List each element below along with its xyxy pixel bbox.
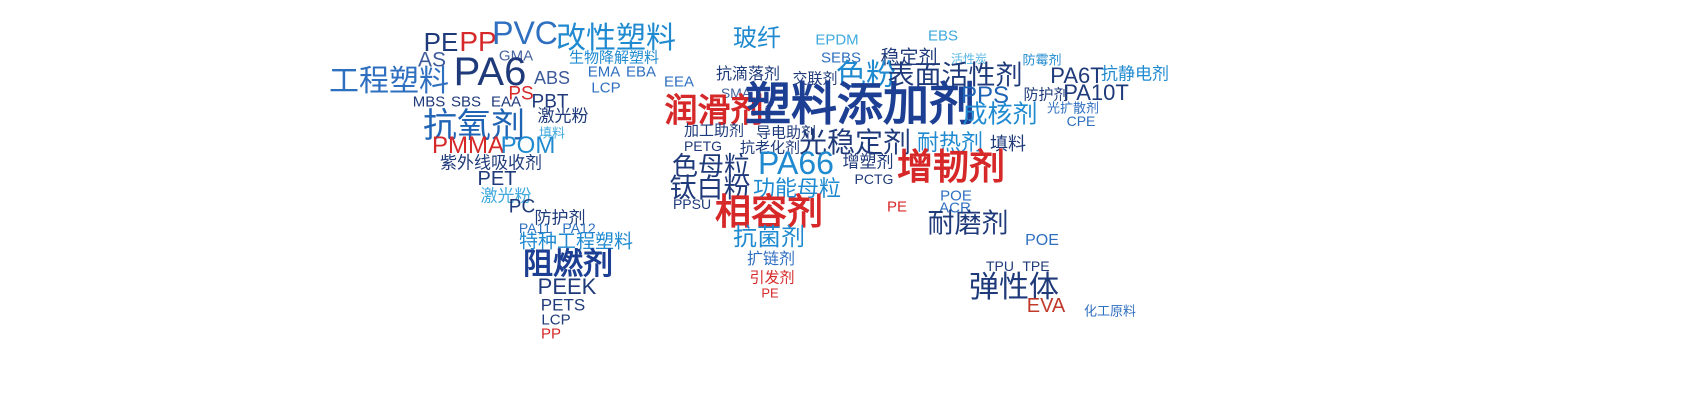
- cloud-word[interactable]: PPSU: [673, 197, 711, 211]
- cloud-word[interactable]: PA66: [758, 147, 834, 179]
- cloud-word[interactable]: 抗菌剂: [733, 226, 805, 250]
- cloud-word[interactable]: EMA: [588, 65, 621, 80]
- cloud-word[interactable]: 加工助剂: [684, 124, 744, 139]
- word-cloud-canvas: PEPPPVCGMA改性塑料玻纤EPDMEBSAS生物降解塑料SEBS稳定剂活性…: [0, 0, 1707, 400]
- cloud-word[interactable]: EBA: [626, 65, 656, 80]
- cloud-word[interactable]: 扩链剂: [747, 252, 795, 268]
- cloud-word[interactable]: PP: [541, 327, 561, 342]
- cloud-word[interactable]: ABS: [534, 69, 570, 87]
- cloud-word[interactable]: 化工原料: [1084, 305, 1136, 318]
- cloud-word[interactable]: CPE: [1067, 114, 1096, 128]
- cloud-word[interactable]: EBS: [928, 29, 958, 44]
- cloud-word[interactable]: EPDM: [815, 33, 858, 48]
- cloud-word[interactable]: PVC: [492, 17, 558, 49]
- cloud-word[interactable]: EVA: [1027, 296, 1066, 316]
- cloud-word[interactable]: LCP: [591, 81, 620, 96]
- cloud-word[interactable]: 成核剂: [962, 103, 1037, 128]
- cloud-word[interactable]: 激光粉: [538, 108, 589, 125]
- cloud-word[interactable]: 增韧剂: [897, 149, 1005, 185]
- cloud-word[interactable]: POE: [1025, 233, 1059, 249]
- cloud-word[interactable]: PE: [887, 200, 907, 215]
- cloud-word[interactable]: PC: [509, 198, 535, 217]
- cloud-word[interactable]: 耐磨剂: [928, 211, 1009, 238]
- cloud-word[interactable]: 工程塑料: [329, 67, 449, 97]
- cloud-word[interactable]: 引发剂: [749, 271, 794, 286]
- cloud-word[interactable]: PE: [761, 287, 778, 300]
- cloud-word[interactable]: 玻纤: [733, 27, 781, 51]
- cloud-word[interactable]: 塑料添加剂: [745, 81, 975, 127]
- cloud-word[interactable]: EEA: [664, 75, 694, 90]
- cloud-word[interactable]: 增塑剂: [843, 154, 894, 171]
- cloud-word[interactable]: PCTG: [855, 172, 894, 186]
